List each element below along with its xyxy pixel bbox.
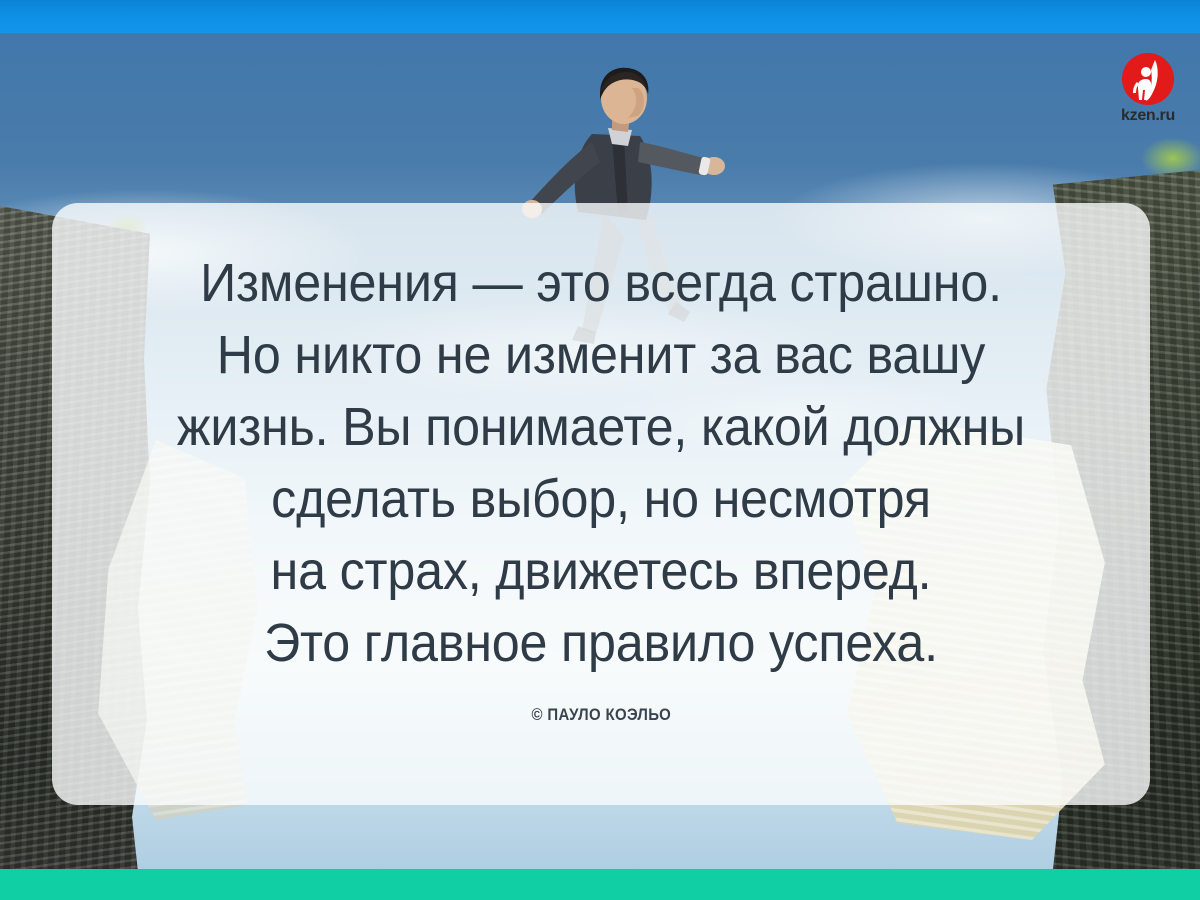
quote-card: Изменения — это всегда страшно. Но никто… [52,203,1150,805]
top-accent-bar [0,0,1200,33]
site-logo[interactable]: kzen.ru [1106,52,1190,144]
quote-attribution: © ПАУЛО КОЭЛЬО [531,705,671,725]
quote-text-block: Изменения — это всегда страшно. Но никто… [82,247,1120,679]
quote-line: на страх, движетесь вперед. [118,535,1083,607]
quote-line: Но никто не изменит за вас вашу [118,319,1083,391]
quote-line: Изменения — это всегда страшно. [118,247,1083,319]
kzen-logo-icon [1121,52,1175,106]
bottom-accent-bar [0,869,1200,900]
quote-line: жизнь. Вы понимаете, какой должны [118,391,1083,463]
quote-line: сделать выбор, но несмотря [118,463,1083,535]
quote-image-canvas: kzen.ru Изменения — это всегда страшно. … [0,0,1200,900]
quote-line: Это главное правило успеха. [118,607,1083,679]
logo-text: kzen.ru [1106,108,1190,124]
